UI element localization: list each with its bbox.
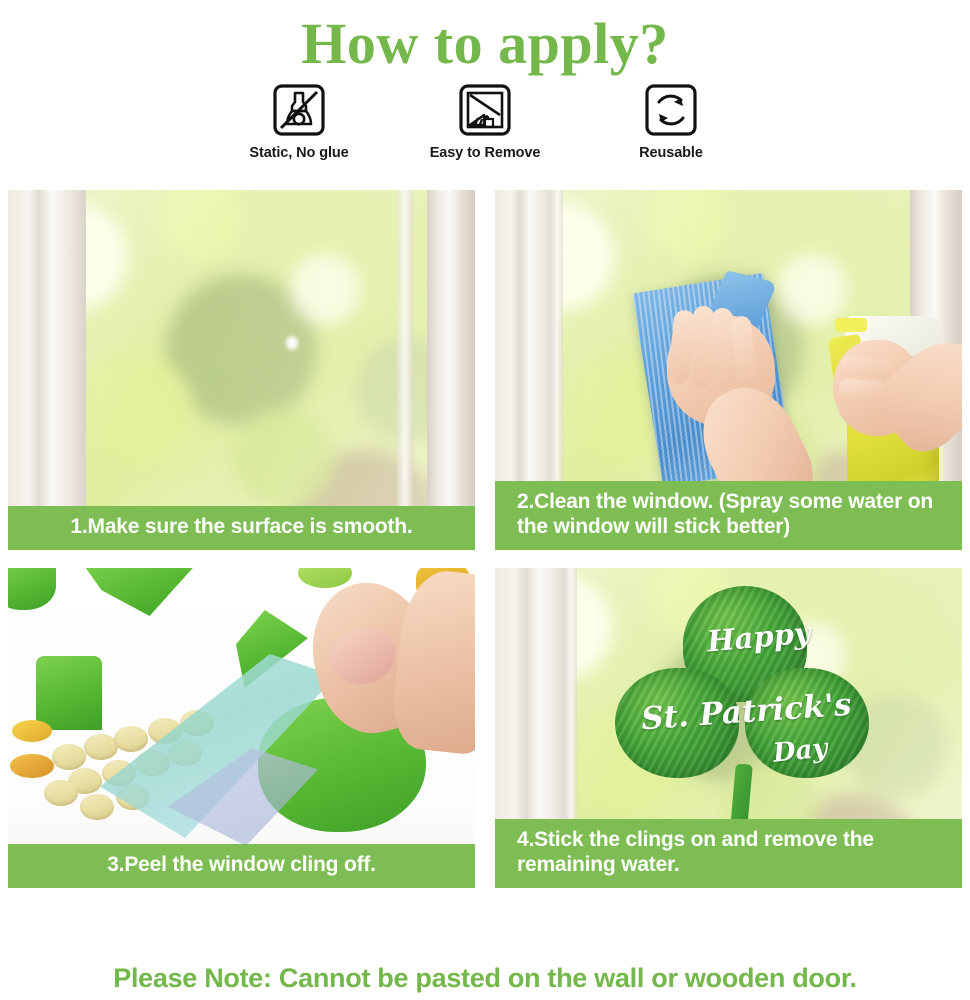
step-caption-4: 4.Stick the clings on and remove the rem… (495, 819, 962, 888)
decal-fragment (10, 754, 54, 778)
feature-label: Reusable (639, 145, 703, 161)
peel-window-icon (457, 82, 513, 138)
cling-coin (114, 726, 148, 752)
footer-note: Please Note: Cannot be pasted on the wal… (0, 963, 970, 994)
feature-reusable: Reusable (611, 82, 731, 161)
window-frame-left (8, 190, 86, 550)
page-title: How to apply? (0, 0, 970, 80)
decal-fragment (12, 720, 52, 742)
step-card-2: 2.Clean the window. (Spray some water on… (495, 190, 962, 550)
window-frame-right (427, 190, 475, 550)
no-glue-icon (271, 82, 327, 138)
feature-badge-row: Static, No glue Easy to Remove (0, 82, 970, 182)
spray-bottle-nozzle (835, 318, 867, 332)
cling-coin (84, 734, 118, 760)
shamrock-leaf-right (745, 668, 869, 778)
step-card-3: 3.Peel the window cling off. (8, 568, 475, 888)
step-photo-1 (8, 190, 475, 550)
shamrock-leaf-left (615, 668, 739, 778)
step-card-1: 1.Make sure the surface is smooth. (8, 190, 475, 550)
cling-coin (44, 780, 78, 806)
cling-coin (52, 744, 86, 770)
cling-coin (80, 794, 114, 820)
step-caption-3: 3.Peel the window cling off. (8, 844, 475, 888)
feature-static-no-glue: Static, No glue (239, 82, 359, 161)
glass-highlight (286, 336, 298, 350)
cling-hat-crown (36, 656, 102, 730)
finger (691, 306, 715, 389)
reusable-arrows-icon (643, 82, 699, 138)
step-caption-2: 2.Clean the window. (Spray some water on… (495, 481, 962, 550)
feature-easy-to-remove: Easy to Remove (425, 82, 545, 161)
step-photo-3 (8, 568, 475, 888)
feature-label: Static, No glue (249, 145, 348, 161)
how-to-steps-grid: 1.Make sure the surface is smooth. (8, 190, 962, 888)
step-caption-1: 1.Make sure the surface is smooth. (8, 506, 475, 550)
finger (712, 308, 736, 389)
feature-label: Easy to Remove (430, 145, 541, 161)
step-card-4: Happy St. Patrick's Day 4.Stick the clin… (495, 568, 962, 888)
window-mullion (397, 190, 413, 550)
